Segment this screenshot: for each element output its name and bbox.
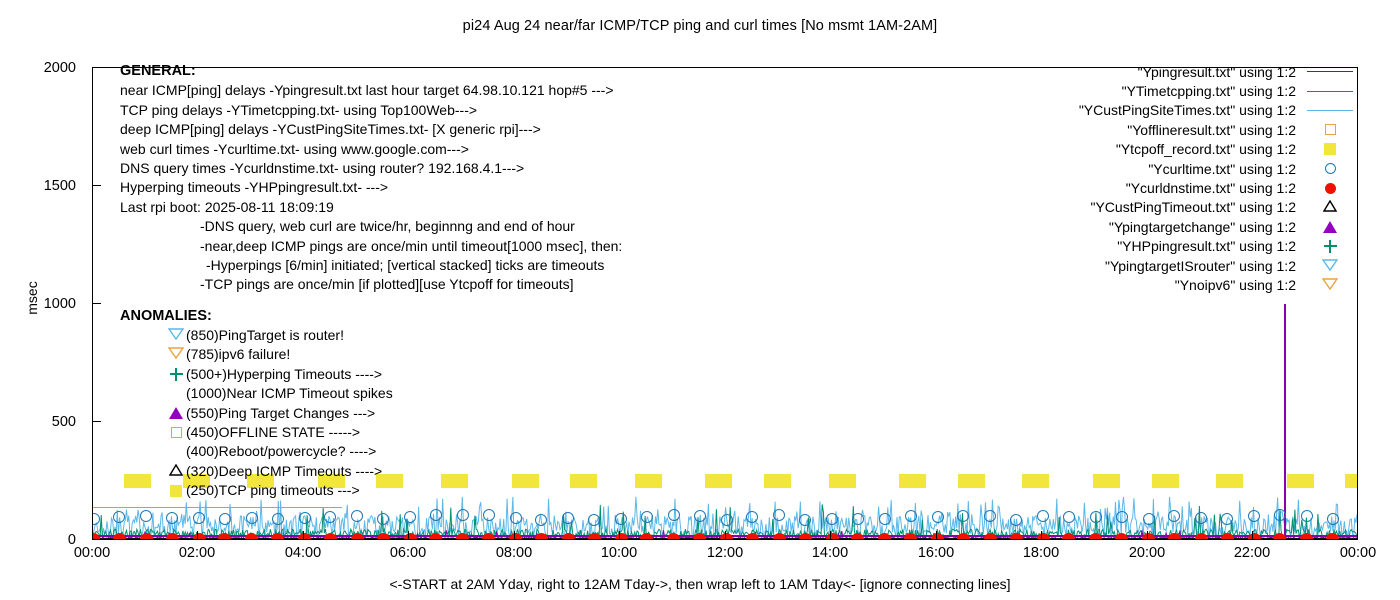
legend-item-key xyxy=(1302,258,1358,274)
general-heading: GENERAL: xyxy=(120,62,622,81)
general-line-2: deep ICMP[ping] delays -YCustPingSiteTim… xyxy=(120,120,622,139)
x-tickmark xyxy=(1147,531,1148,540)
general-line-6: Last rpi boot: 2025-08-11 18:09:19 xyxy=(120,198,622,217)
x-tick-4: 08:00 xyxy=(479,545,549,561)
x-tickmark xyxy=(830,531,831,540)
x-tickmark xyxy=(408,531,409,540)
legend-item-key xyxy=(1302,240,1358,253)
legend-item-label: "Ycurldnstime.txt" using 1:2 xyxy=(1126,180,1296,196)
legend-item-label: "Ypingtargetchange" using 1:2 xyxy=(1109,219,1296,235)
general-annotation-block: GENERAL: near ICMP[ping] delays -Ypingre… xyxy=(120,62,622,295)
legend-item: "YCustPingSiteTimes.txt" using 1:2 xyxy=(998,101,1358,120)
plus-icon xyxy=(170,368,183,381)
x-tickmark xyxy=(619,531,620,540)
open-square-icon xyxy=(1325,124,1336,135)
anomaly-glyph xyxy=(166,407,186,419)
general-subline-1: -near,deep ICMP pings are once/min until… xyxy=(120,237,622,256)
anomaly-row: (785)ipv6 failure! xyxy=(120,345,393,364)
legend-item: "Ycurldnstime.txt" using 1:2 xyxy=(998,178,1358,197)
legend-line-icon xyxy=(1307,91,1353,92)
anomaly-label: (1000)Near ICMP Timeout spikes xyxy=(186,384,393,403)
anomaly-row: (400)Reboot/powercycle? ----> xyxy=(120,442,393,461)
legend-item-key xyxy=(1302,91,1358,92)
general-subline-2: -Hyperpings [6/min] initiated; [vertical… xyxy=(120,256,622,275)
x-tick-0: 00:00 xyxy=(57,545,127,561)
anomalies-annotation-block: ANOMALIES: (850)PingTarget is router!(78… xyxy=(120,306,393,501)
legend-item: "YHPpingresult.txt" using 1:2 xyxy=(998,237,1358,256)
x-tick-5: 10:00 xyxy=(584,545,654,561)
open-triangle-up-icon xyxy=(1323,199,1337,215)
filled-square-icon xyxy=(170,485,182,497)
x-tickmark xyxy=(725,531,726,540)
filled-square-icon xyxy=(1324,143,1336,155)
x-axis-caption: <-START at 2AM Yday, right to 12AM Tday-… xyxy=(0,576,1400,592)
open-triangle-down-icon xyxy=(1322,258,1338,274)
anomaly-label: (500+)Hyperping Timeouts ----> xyxy=(186,365,382,384)
y-tick-1500: 1500 xyxy=(20,178,76,194)
x-tickmark xyxy=(303,531,304,540)
x-tick-9: 18:00 xyxy=(1006,545,1076,561)
legend-item-key xyxy=(1302,110,1358,111)
anomaly-glyph xyxy=(166,345,186,364)
legend-item-key xyxy=(1302,71,1358,72)
anomaly-glyph xyxy=(166,485,186,497)
plus-icon xyxy=(1324,240,1337,253)
open-triangle-down-icon xyxy=(1322,277,1338,293)
x-tick-1: 02:00 xyxy=(162,545,232,561)
x-tick-11: 22:00 xyxy=(1217,545,1287,561)
legend-item: "Ypingresult.txt" using 1:2 xyxy=(998,62,1358,81)
y-tick-500: 500 xyxy=(20,414,76,430)
open-triangle-up-icon xyxy=(169,462,183,481)
legend-item-label: "YCustPingTimeout.txt" using 1:2 xyxy=(1090,199,1296,215)
general-subline-3: -TCP pings are once/min [if plotted][use… xyxy=(120,275,622,294)
general-line-0: near ICMP[ping] delays -Ypingresult.txt … xyxy=(120,81,622,100)
legend-line-icon xyxy=(1307,71,1353,72)
anomaly-label: (785)ipv6 failure! xyxy=(186,345,290,364)
anomaly-glyph xyxy=(166,326,186,345)
y-tick-2000: 2000 xyxy=(20,60,76,76)
general-line-3: web curl times -Ycurltime.txt- using www… xyxy=(120,140,622,159)
legend-item-key xyxy=(1302,199,1358,215)
legend-item-label: "YpingtargetISrouter" using 1:2 xyxy=(1105,258,1296,274)
filled-triangle-up-icon xyxy=(169,407,183,419)
legend-item-label: "YTimetcpping.txt" using 1:2 xyxy=(1122,83,1296,99)
open-triangle-down-icon xyxy=(168,326,184,345)
x-tick-8: 16:00 xyxy=(901,545,971,561)
anomaly-row: (550)Ping Target Changes ---> xyxy=(120,404,393,423)
general-subline-0: -DNS query, web curl are twice/hr, begin… xyxy=(120,217,622,236)
anomaly-label: (450)OFFLINE STATE -----> xyxy=(186,423,360,442)
chart-canvas: pi24 Aug 24 near/far ICMP/TCP ping and c… xyxy=(0,0,1400,600)
legend-item: "YpingtargetISrouter" using 1:2 xyxy=(998,256,1358,275)
page-title: pi24 Aug 24 near/far ICMP/TCP ping and c… xyxy=(0,18,1400,34)
anomaly-row: (500+)Hyperping Timeouts ----> xyxy=(120,365,393,384)
anomalies-heading: ANOMALIES: xyxy=(120,306,393,326)
x-tickmark xyxy=(1252,531,1253,540)
anomaly-row: (850)PingTarget is router! xyxy=(120,326,393,345)
legend-item: "Ynoipv6" using 1:2 xyxy=(998,275,1358,294)
legend-item: "Ytcpoff_record.txt" using 1:2 xyxy=(998,140,1358,159)
legend-item-key xyxy=(1302,183,1358,194)
anomaly-glyph xyxy=(166,427,186,438)
legend-item-key xyxy=(1302,124,1358,135)
anomaly-label: (850)PingTarget is router! xyxy=(186,326,344,345)
legend-item-label: "Ynoipv6" using 1:2 xyxy=(1175,277,1296,293)
anomaly-glyph xyxy=(166,368,186,381)
legend-item: "Yofflineresult.txt" using 1:2 xyxy=(998,120,1358,139)
legend-item-key xyxy=(1302,221,1358,233)
legend-item-label: "Ytcpoff_record.txt" using 1:2 xyxy=(1116,141,1296,157)
legend-item-label: "Ypingresult.txt" using 1:2 xyxy=(1138,64,1296,80)
filled-triangle-up-icon xyxy=(1323,221,1337,233)
anomaly-label: (550)Ping Target Changes ---> xyxy=(186,404,375,423)
anomaly-label: (250)TCP ping timeouts ---> xyxy=(186,481,360,500)
legend-item: "Ypingtargetchange" using 1:2 xyxy=(998,217,1358,236)
legend-item-key xyxy=(1302,143,1358,155)
anomaly-label: (320)Deep ICMP Timeouts ----> xyxy=(186,462,382,481)
legend-line-icon xyxy=(1307,110,1353,111)
legend-item: "YTimetcpping.txt" using 1:2 xyxy=(998,81,1358,100)
anomaly-row: (320)Deep ICMP Timeouts ----> xyxy=(120,462,393,481)
x-tick-7: 14:00 xyxy=(795,545,865,561)
open-triangle-down-icon xyxy=(168,345,184,364)
x-tickmark xyxy=(1041,531,1042,540)
x-tick-10: 20:00 xyxy=(1112,545,1182,561)
legend-item-label: "YHPpingresult.txt" using 1:2 xyxy=(1117,238,1296,254)
anomaly-row: (1000)Near ICMP Timeout spikes xyxy=(120,384,393,403)
legend-item-key xyxy=(1302,277,1358,293)
x-tick-12: 00:00 xyxy=(1323,545,1393,561)
legend-item-label: "Ycurltime.txt" using 1:2 xyxy=(1148,161,1296,177)
general-line-1: TCP ping delays -YTimetcpping.txt- using… xyxy=(120,101,622,120)
general-line-5: Hyperping timeouts -YHPpingresult.txt- -… xyxy=(120,178,622,197)
x-tick-3: 06:00 xyxy=(373,545,443,561)
open-square-icon xyxy=(171,427,182,438)
x-tick-6: 12:00 xyxy=(690,545,760,561)
anomaly-glyph xyxy=(166,462,186,481)
general-line-4: DNS query times -Ycurldnstime.txt- using… xyxy=(120,159,622,178)
anomaly-row: (250)TCP ping timeouts ---> xyxy=(120,481,393,500)
filled-circle-icon xyxy=(1325,183,1336,194)
legend-item: "Ycurltime.txt" using 1:2 xyxy=(998,159,1358,178)
legend-item-label: "Yofflineresult.txt" using 1:2 xyxy=(1127,122,1296,138)
x-tickmark xyxy=(514,531,515,540)
y-tick-1000: 1000 xyxy=(20,296,76,312)
legend: "Ypingresult.txt" using 1:2"YTimetcpping… xyxy=(998,62,1358,295)
x-tickmark xyxy=(197,531,198,540)
legend-item-label: "YCustPingSiteTimes.txt" using 1:2 xyxy=(1079,102,1296,118)
anomaly-label: (400)Reboot/powercycle? ----> xyxy=(186,442,376,461)
open-circle-icon xyxy=(1325,163,1336,174)
anomaly-row: (450)OFFLINE STATE -----> xyxy=(120,423,393,442)
legend-item-key xyxy=(1302,163,1358,174)
x-tick-2: 04:00 xyxy=(268,545,338,561)
x-tickmark xyxy=(936,531,937,540)
legend-item: "YCustPingTimeout.txt" using 1:2 xyxy=(998,198,1358,217)
